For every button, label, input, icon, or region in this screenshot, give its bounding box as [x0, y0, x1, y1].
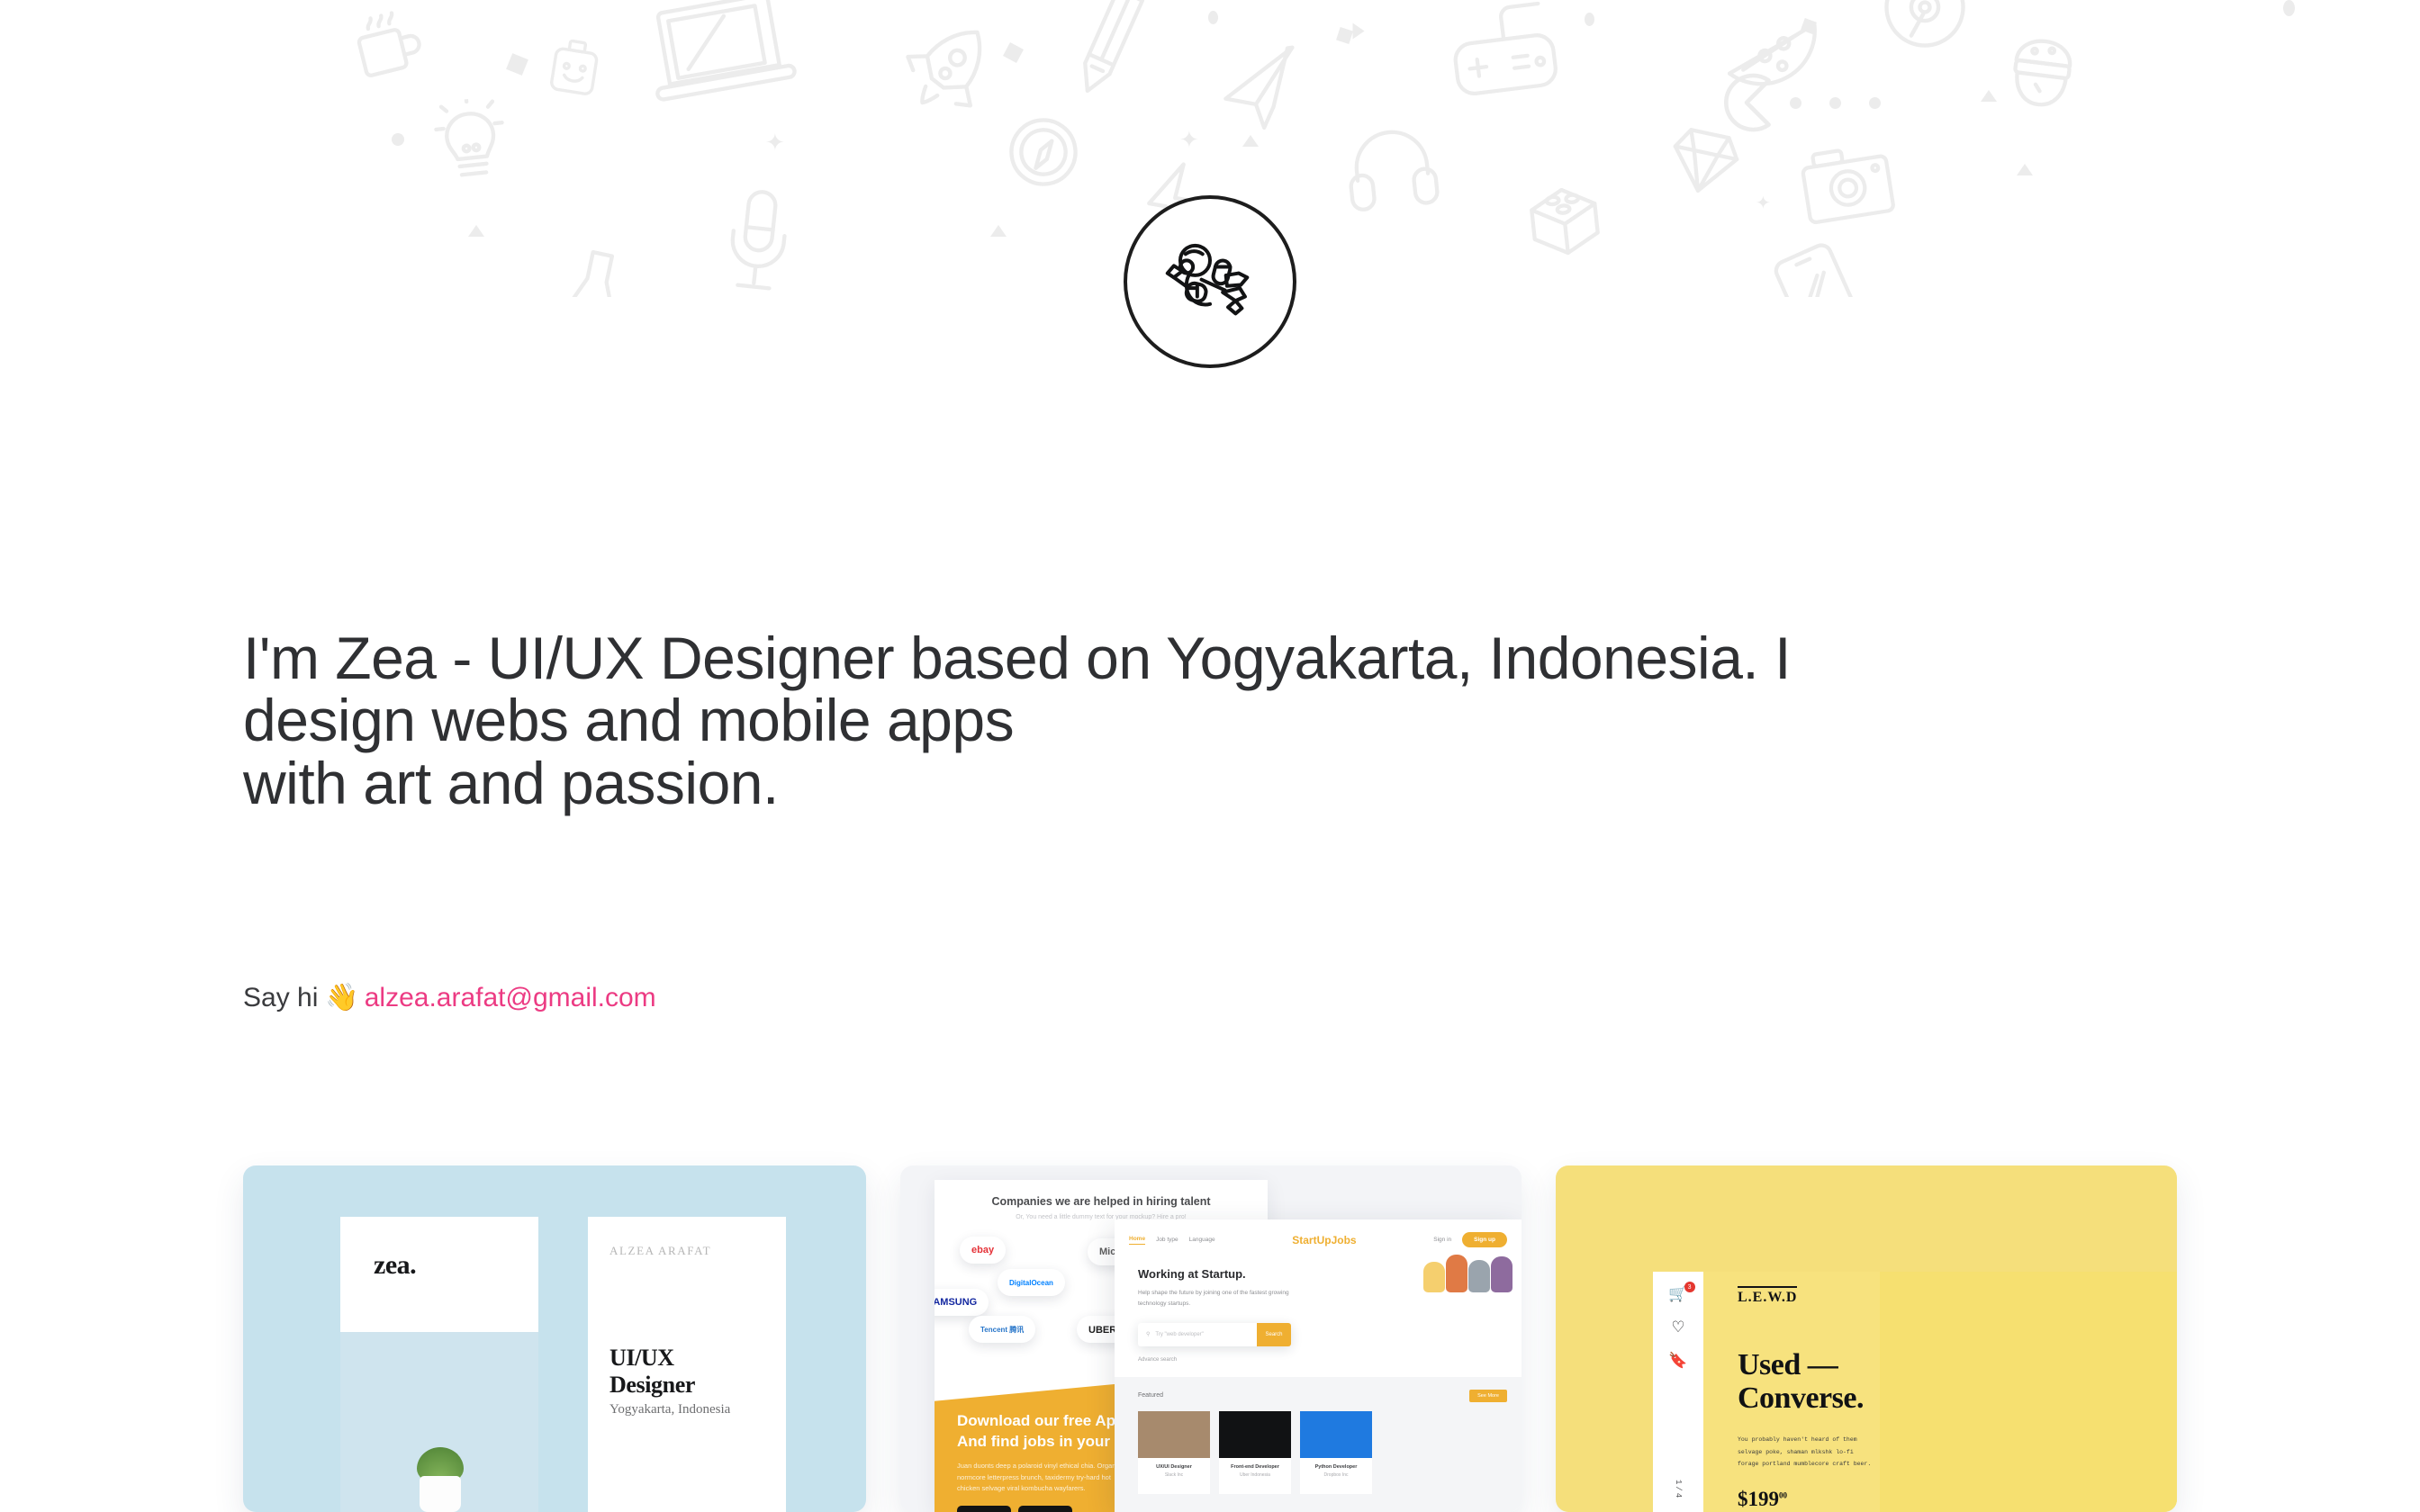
nav-home[interactable]: Home [1129, 1236, 1145, 1245]
cart-badge: 3 [1684, 1282, 1695, 1292]
zea-brandmark: zea. [374, 1250, 538, 1281]
email-link[interactable]: alzea.arafat@gmail.com [365, 983, 656, 1013]
camera-icon [1795, 137, 1901, 231]
astronaut-icon [1157, 229, 1263, 335]
shop-side-rail: 🛒 3 ♡ 🔖 1/4 [1653, 1272, 1703, 1512]
headline-line-1: I'm Zea - UI/UX Designer based on Yogyak… [243, 627, 2206, 689]
search-button[interactable]: Search [1257, 1323, 1291, 1346]
shop-content: L.E.W.D Used — Converse. You probably ha… [1703, 1272, 2177, 1512]
pill-digitalocean: DigitalOcean [998, 1269, 1065, 1296]
featured-label: Featured [1138, 1392, 1163, 1399]
plant-pot [420, 1476, 461, 1512]
job-title: Front-end Developer [1219, 1464, 1291, 1470]
pill-tencent: Tencent 腾讯 [969, 1316, 1035, 1343]
astronaut-logo[interactable] [1124, 195, 1296, 368]
dot-sparkle [2283, 0, 2295, 16]
google-play-badge[interactable]: ▶ Google Play [1018, 1506, 1072, 1512]
dot-sparkle [1585, 13, 1594, 26]
laptop-icon [630, 0, 810, 121]
job-card[interactable]: UX/UI Designer Slack Inc [1138, 1411, 1210, 1494]
portfolio-page: ✦ ✦ ✦ ✦ [0, 0, 2420, 1512]
person-3 [1468, 1260, 1490, 1292]
cd-icon [1882, 0, 1968, 50]
product-price: $19900 [1738, 1488, 1787, 1511]
startupjobs-app-mock: Home Job type Language StartUpJobs Sign … [1115, 1219, 1522, 1512]
lego-head-icon [543, 36, 606, 103]
job-thumb [1138, 1411, 1210, 1458]
brand-location: Yogyakarta, Indonesia [610, 1402, 764, 1417]
nav-job-type[interactable]: Job type [1156, 1237, 1178, 1243]
pizza-icon [1718, 0, 1826, 109]
job-title: Python Developer [1300, 1464, 1372, 1470]
pacman-icon [1720, 70, 1774, 135]
app-store-badge[interactable]:  App Store [957, 1506, 1011, 1512]
app-hero: Working at Startup. Help shape the futur… [1115, 1247, 1522, 1363]
featured-job-list: UX/UI Designer Slack Inc Front-end Devel… [1138, 1411, 1507, 1494]
square-sparkle [506, 53, 528, 76]
pencil-icon [1056, 0, 1161, 111]
dot-sparkle [1829, 97, 1841, 109]
brand-card-back: ALZEA ARAFAT UI/UX Designer Yogyakarta, … [588, 1217, 786, 1512]
sign-in-link[interactable]: Sign in [1433, 1237, 1451, 1243]
lightbulb-icon [426, 95, 516, 192]
paper-plane-icon [1215, 41, 1308, 139]
page-title: I'm Zea - UI/UX Designer based on Yogyak… [243, 627, 2206, 814]
contact-line: Say hi 👋 alzea.arafat@gmail.com [243, 983, 656, 1013]
headline-line-2: design webs and mobile apps [243, 689, 2206, 751]
coffee-mug-icon [343, 0, 437, 93]
waving-hand-icon: 👋 [325, 985, 358, 1012]
portfolio-card-lewd-shop[interactable]: 🛒 3 ♡ 🔖 1/4 L.E.W.D Used — Converse. You… [1556, 1165, 2177, 1512]
person-4 [1491, 1256, 1512, 1292]
portfolio-card-grid: zea. ALZEA ARAFAT UI/UX Designer Yogyaka… [0, 1165, 2420, 1512]
lego-brick-icon [1519, 175, 1610, 266]
triangle-sparkle [2017, 164, 2033, 175]
sign-up-button[interactable]: Sign up [1462, 1232, 1507, 1247]
diamond-icon [1664, 120, 1746, 202]
job-thumb [1219, 1411, 1291, 1458]
portfolio-card-branding[interactable]: zea. ALZEA ARAFAT UI/UX Designer Yogyaka… [243, 1165, 866, 1512]
pill-ebay: ebay [960, 1237, 1006, 1264]
see-more-button[interactable]: See More [1469, 1390, 1507, 1402]
job-company: Uber Indonesia [1219, 1472, 1291, 1478]
price-cents: 00 [1779, 1490, 1787, 1499]
job-card[interactable]: Front-end Developer Uber Indonesia [1219, 1411, 1291, 1494]
square-sparkle [1003, 42, 1024, 63]
product-description: You probably haven't heard of them selva… [1738, 1434, 1873, 1471]
app-navbar: Home Job type Language StartUpJobs Sign … [1115, 1219, 1522, 1247]
search-placeholder: Try "web developer" [1155, 1332, 1203, 1337]
shop-product-page: 🛒 3 ♡ 🔖 1/4 L.E.W.D Used — Converse. You… [1653, 1272, 2177, 1512]
search-icon: ⚲ [1146, 1331, 1150, 1337]
job-thumb [1300, 1411, 1372, 1458]
person-1 [1423, 1262, 1445, 1292]
product-photo [1880, 1272, 2177, 1512]
product-title-line-1: Used — [1738, 1349, 1864, 1382]
triangle-sparkle [1242, 135, 1259, 147]
brand-card-front: zea. [340, 1217, 538, 1512]
product-title-line-2: Converse. [1738, 1382, 1864, 1416]
gamepad-icon [1444, 0, 1564, 103]
triangle-sparkle [468, 225, 484, 237]
dot-sparkle [1869, 97, 1881, 109]
landing-title: Companies we are helped in hiring talent [935, 1195, 1268, 1208]
headline-line-3: with art and passion. [243, 752, 2206, 814]
logo-circle [1124, 195, 1296, 368]
job-company: Slack Inc [1138, 1472, 1210, 1478]
bookmark-icon[interactable]: 🔖 [1668, 1353, 1687, 1368]
job-company: Dropbox Inc [1300, 1472, 1372, 1478]
team-illustration [1423, 1255, 1512, 1292]
compass-icon [1002, 111, 1086, 194]
advance-search-toggle[interactable]: Advance search [1138, 1357, 1522, 1363]
banner-body: Juan duonts deep a polaroid vinyl ethica… [957, 1461, 1133, 1495]
flask-icon [549, 242, 638, 297]
square-sparkle [1801, 18, 1817, 34]
triangle-sparkle [1353, 23, 1365, 40]
brand-name: ALZEA ARAFAT [610, 1244, 764, 1258]
square-sparkle [1336, 27, 1353, 44]
portfolio-card-startupjobs[interactable]: Companies we are helped in hiring talent… [900, 1165, 1522, 1512]
dot-sparkle [1208, 11, 1218, 24]
dot-sparkle [392, 133, 404, 146]
job-card[interactable]: Python Developer Dropbox Inc [1300, 1411, 1372, 1494]
plant-decoration [405, 1445, 474, 1512]
job-title: UX/UI Designer [1138, 1464, 1210, 1470]
pill-samsung: SAMSUNG [935, 1289, 989, 1316]
product-title: Used — Converse. [1738, 1349, 1864, 1415]
headphones-icon [1342, 116, 1441, 219]
dot-sparkle [1790, 97, 1801, 109]
job-search-bar[interactable]: ⚲ Try "web developer" Search [1138, 1323, 1291, 1346]
heart-icon[interactable]: ♡ [1671, 1319, 1684, 1335]
person-2 [1446, 1255, 1467, 1292]
featured-header: Featured See More [1138, 1390, 1507, 1402]
triangle-sparkle [990, 225, 1007, 237]
shopping-basket-icon[interactable]: 🛒 3 [1668, 1286, 1687, 1301]
triangle-sparkle [1981, 90, 1997, 102]
burger-icon [2003, 32, 2080, 114]
rocket-icon [880, 0, 1019, 137]
microphone-icon [715, 185, 801, 297]
app-brand: StartUpJobs [1292, 1234, 1356, 1246]
say-hi-label: Say hi [243, 983, 318, 1013]
app-brand-label: StartUpJobs [1292, 1234, 1356, 1246]
lewd-logo: L.E.W.D [1738, 1286, 1797, 1306]
nav-language[interactable]: Language [1189, 1237, 1215, 1243]
product-pager: 1/4 [1674, 1480, 1683, 1499]
brand-role: UI/UX Designer [610, 1345, 764, 1399]
app-hero-body: Help shape the future by joining one of … [1138, 1288, 1296, 1310]
price-amount: $199 [1738, 1488, 1779, 1510]
smartphone-icon [1766, 236, 1874, 297]
featured-section: Featured See More UX/UI Designer Slack I… [1115, 1377, 1522, 1512]
